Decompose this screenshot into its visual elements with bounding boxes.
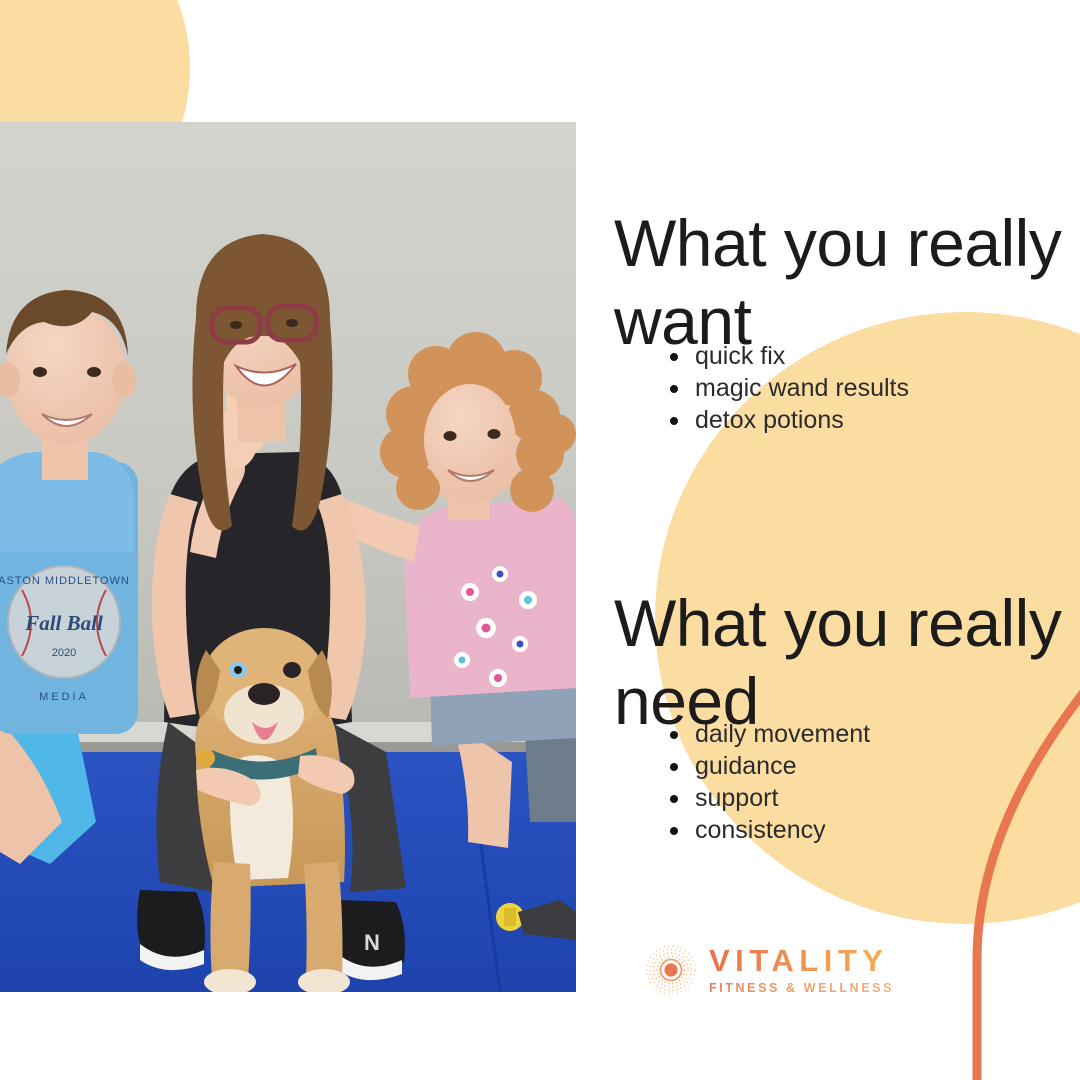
bullet-dot-icon <box>670 417 678 425</box>
brand-logo: VITALITY FITNESS & WELLNESS <box>645 944 894 996</box>
list-item: support <box>670 782 870 814</box>
svg-text:N: N <box>364 930 380 955</box>
list-item-label: daily movement <box>695 720 870 748</box>
list-item: consistency <box>670 814 870 846</box>
list-item: guidance <box>670 750 870 782</box>
bullet-list-need: daily movement guidance support consiste… <box>670 718 870 846</box>
bullet-dot-icon <box>670 731 678 739</box>
radial-sunburst-icon <box>645 944 697 996</box>
list-item: quick fix <box>670 340 909 372</box>
list-item-label: consistency <box>695 816 826 844</box>
family-photo: ASTON MIDDLETOWN Fall Ball 2020 MEDIA <box>0 122 576 992</box>
bullet-dot-icon <box>670 795 678 803</box>
headline-what-you-really-want: What you really want <box>614 204 1074 360</box>
list-item-label: support <box>695 784 778 812</box>
logo-name: VITALITY <box>709 945 894 976</box>
list-item-label: magic wand results <box>695 374 909 402</box>
list-item: detox potions <box>670 404 909 436</box>
svg-text:2020: 2020 <box>52 647 76 659</box>
list-item-label: quick fix <box>695 342 785 370</box>
list-item: daily movement <box>670 718 870 750</box>
logo-tagline: FITNESS & WELLNESS <box>709 982 894 995</box>
list-item-label: guidance <box>695 752 796 780</box>
bullet-dot-icon <box>670 763 678 771</box>
svg-text:ASTON MIDDLETOWN: ASTON MIDDLETOWN <box>0 575 130 587</box>
list-item: magic wand results <box>670 372 909 404</box>
svg-text:Fall Ball: Fall Ball <box>24 611 103 635</box>
list-item-label: detox potions <box>695 406 844 434</box>
logo-text: VITALITY FITNESS & WELLNESS <box>709 945 894 995</box>
bullet-list-want: quick fix magic wand results detox potio… <box>670 340 909 436</box>
bullet-dot-icon <box>670 827 678 835</box>
headline-what-you-really-need: What you really need <box>614 584 1074 740</box>
bullet-dot-icon <box>670 353 678 361</box>
social-graphic-canvas: ASTON MIDDLETOWN Fall Ball 2020 MEDIA <box>0 0 1080 1080</box>
svg-text:MEDIA: MEDIA <box>39 691 89 703</box>
text-column: What you really want quick fix magic wan… <box>614 0 1080 1080</box>
bullet-dot-icon <box>670 385 678 393</box>
